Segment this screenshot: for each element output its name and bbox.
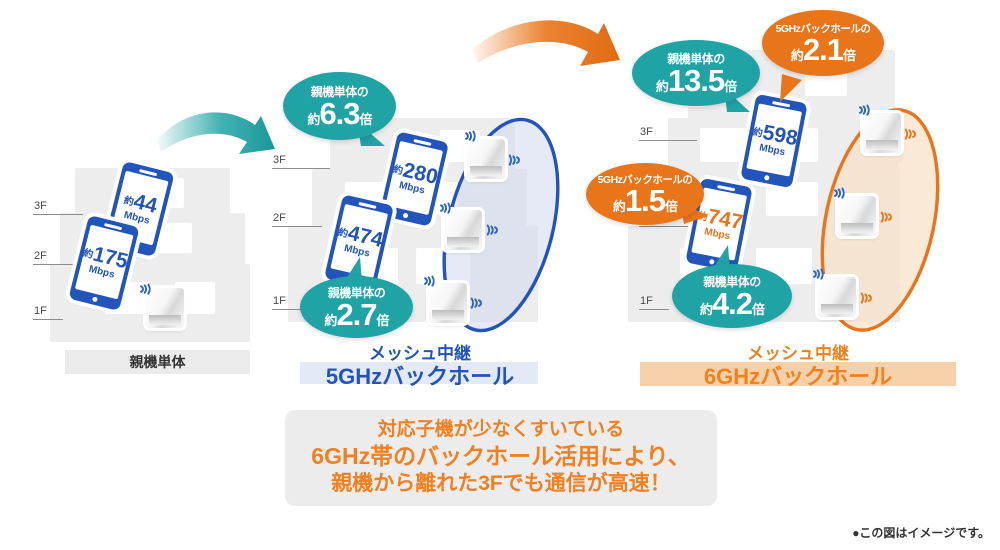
caption-line-3: 親機から離れた3Fでも通信が高速！ bbox=[331, 471, 671, 498]
floor-rule-2f-p1 bbox=[33, 264, 78, 265]
bubble-multiplier-2-1x: 5GHzバックホールの 約2.1倍 bbox=[762, 10, 884, 76]
wifi-signal-icon bbox=[858, 288, 880, 310]
floor-label-1f-p2: 1F bbox=[273, 295, 286, 307]
wifi-signal-icon bbox=[902, 124, 924, 146]
bubble-multiplier-6-3x: 親機単体の 約6.3倍 bbox=[283, 72, 396, 140]
infographic-canvas: 3F 2F 1F 約44 Mbps 約175 Mbps 親機単体 bbox=[0, 0, 1000, 550]
arrow-orange-icon bbox=[470, 8, 635, 88]
bubble-value: 約2.7倍 bbox=[324, 299, 388, 330]
floor-rule-3f-p2 bbox=[272, 168, 330, 169]
floor-label-3f-p2: 3F bbox=[273, 154, 286, 166]
router-base bbox=[841, 223, 873, 233]
summary-caption: 対応子機が少なくすいている 6GHz帯のバックホール活用により、 親機から離れた… bbox=[285, 410, 717, 506]
wifi-signal-icon bbox=[455, 126, 477, 148]
wifi-signal-icon bbox=[506, 150, 528, 172]
floor-rule-1f-p2 bbox=[272, 309, 302, 310]
wifi-signal-icon bbox=[878, 207, 900, 229]
router-base bbox=[432, 310, 464, 320]
banner-line1: メッシュ中継 bbox=[640, 344, 956, 364]
floor-label-1f-p1: 1F bbox=[34, 305, 47, 317]
wifi-signal-icon bbox=[803, 264, 825, 286]
bubble-multiplier-4-2x: 親機単体の 約4.2倍 bbox=[672, 264, 792, 328]
floor-rule-2f-p2 bbox=[272, 226, 322, 227]
floor-label-1f-p3: 1F bbox=[640, 295, 653, 307]
phone-home-button bbox=[403, 213, 409, 219]
wifi-signal-icon bbox=[824, 183, 846, 205]
floor-label-3f-p1: 3F bbox=[34, 200, 47, 212]
panel-banner-6ghz: メッシュ中継 6GHzバックホール bbox=[640, 344, 956, 389]
router-base bbox=[866, 140, 898, 150]
floor-rule-3f-p1 bbox=[33, 214, 83, 215]
bubble-value: 約2.1倍 bbox=[791, 34, 855, 65]
banner-line1: メッシュ中継 bbox=[290, 344, 550, 364]
floor-rule-1f-p1 bbox=[33, 319, 63, 320]
floor-label-2f-p1: 2F bbox=[34, 250, 47, 262]
panel-banner-5ghz: メッシュ中継 5GHzバックホール bbox=[290, 344, 550, 389]
phone-home-button bbox=[92, 296, 98, 302]
wifi-signal-icon bbox=[849, 100, 871, 122]
router-base bbox=[821, 304, 853, 314]
banner-line2: 6GHzバックホール bbox=[640, 364, 956, 389]
router-base bbox=[470, 166, 502, 176]
bubble-multiplier-2-7x: 親機単体の 約2.7倍 bbox=[300, 276, 413, 338]
router-base bbox=[447, 237, 479, 247]
bubble-multiplier-1-5x: 5GHzバックホールの 約1.5倍 bbox=[586, 163, 704, 225]
floor-label-3f-p3: 3F bbox=[640, 126, 653, 138]
wifi-signal-icon bbox=[130, 279, 152, 301]
wifi-signal-icon bbox=[468, 293, 490, 315]
phone-speed-unit: Mbps bbox=[758, 143, 786, 158]
disclaimer-note: ●この図はイメージです。 bbox=[852, 524, 990, 541]
bubble-value: 約1.5倍 bbox=[613, 185, 677, 216]
bubble-tail-2-1x bbox=[776, 72, 816, 112]
banner-line2: 5GHzバックホール bbox=[290, 364, 550, 389]
bubble-value: 約13.5倍 bbox=[656, 65, 736, 96]
bubble-value: 約6.3倍 bbox=[307, 98, 371, 129]
bubble-value: 約4.2倍 bbox=[700, 288, 764, 319]
floor-label-2f-p2: 2F bbox=[273, 212, 286, 224]
wifi-signal-icon bbox=[484, 220, 506, 242]
bubble-multiplier-13-5x: 親機単体の 約13.5倍 bbox=[632, 40, 760, 106]
router-base bbox=[149, 315, 181, 325]
floor-rule-3f-p3 bbox=[639, 140, 697, 141]
caption-line-2: 6GHz帯のバックホール活用により、 bbox=[311, 442, 690, 471]
panel-label-baseline: 親機単体 bbox=[65, 350, 250, 374]
wifi-signal-icon bbox=[414, 271, 436, 293]
caption-line-1: 対応子機が少なくすいている bbox=[378, 418, 624, 442]
floor-rule-1f-p3 bbox=[639, 309, 669, 310]
wifi-signal-icon bbox=[430, 198, 452, 220]
phone-home-button bbox=[764, 175, 770, 181]
